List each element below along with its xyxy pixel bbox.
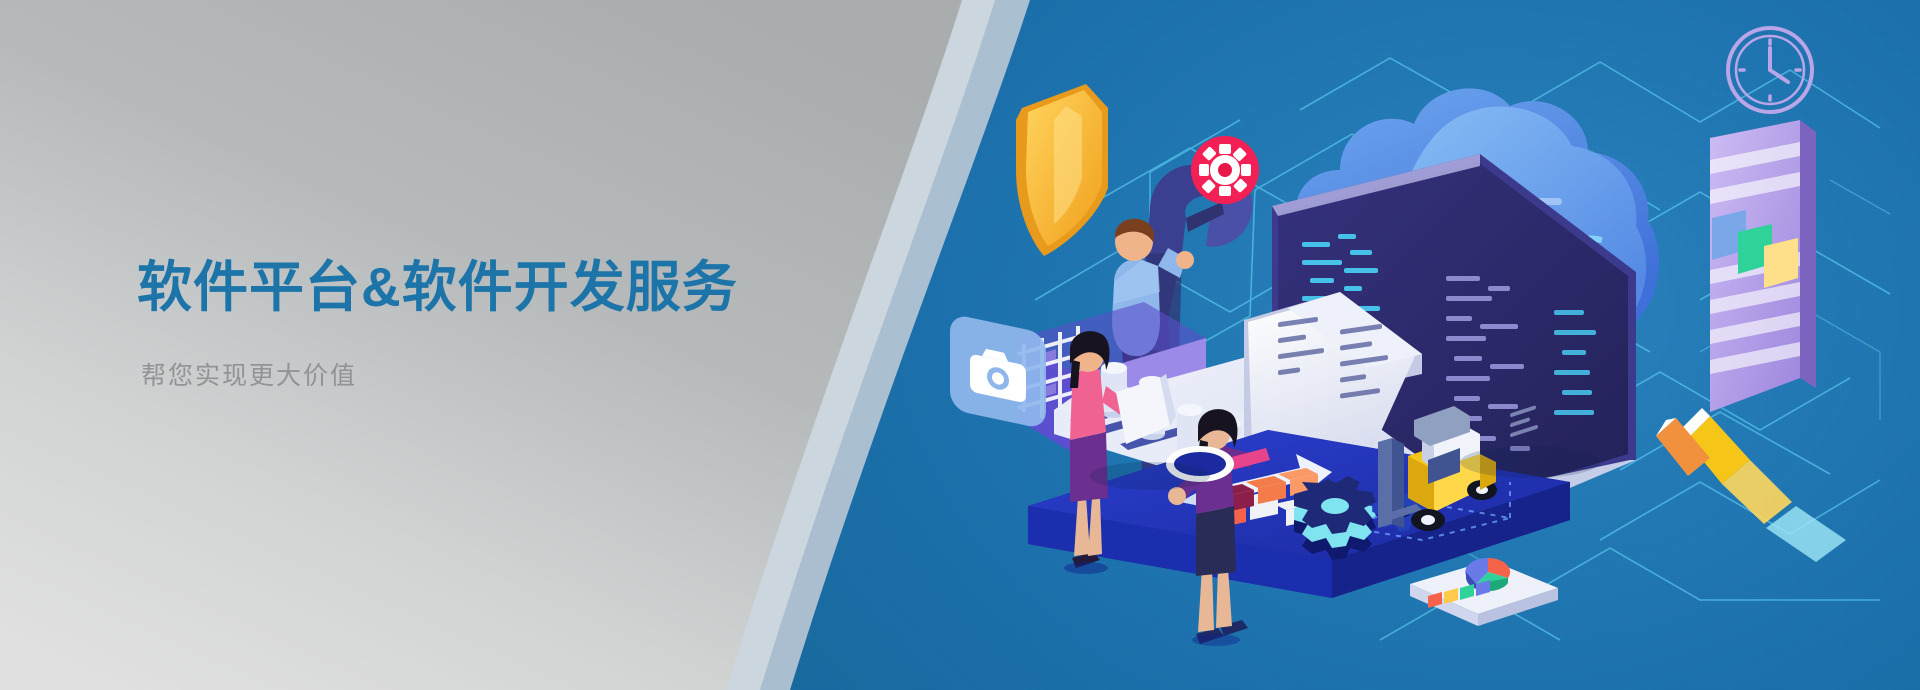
clock-icon bbox=[1728, 28, 1812, 112]
pencils-icon bbox=[1656, 408, 1846, 562]
hero-illustration bbox=[1010, 20, 1920, 690]
banner-copy: 软件平台&软件开发服务 帮您实现更大价值 bbox=[137, 258, 897, 392]
gear-badge-icon bbox=[1191, 136, 1259, 204]
chart-panel bbox=[1710, 120, 1816, 412]
page-title: 软件平台&软件开发服务 bbox=[137, 258, 897, 316]
shield-icon bbox=[1016, 84, 1108, 256]
hero-banner: 软件平台&软件开发服务 帮您实现更大价值 bbox=[0, 0, 1920, 690]
page-subtitle: 帮您实现更大价值 bbox=[141, 356, 897, 392]
